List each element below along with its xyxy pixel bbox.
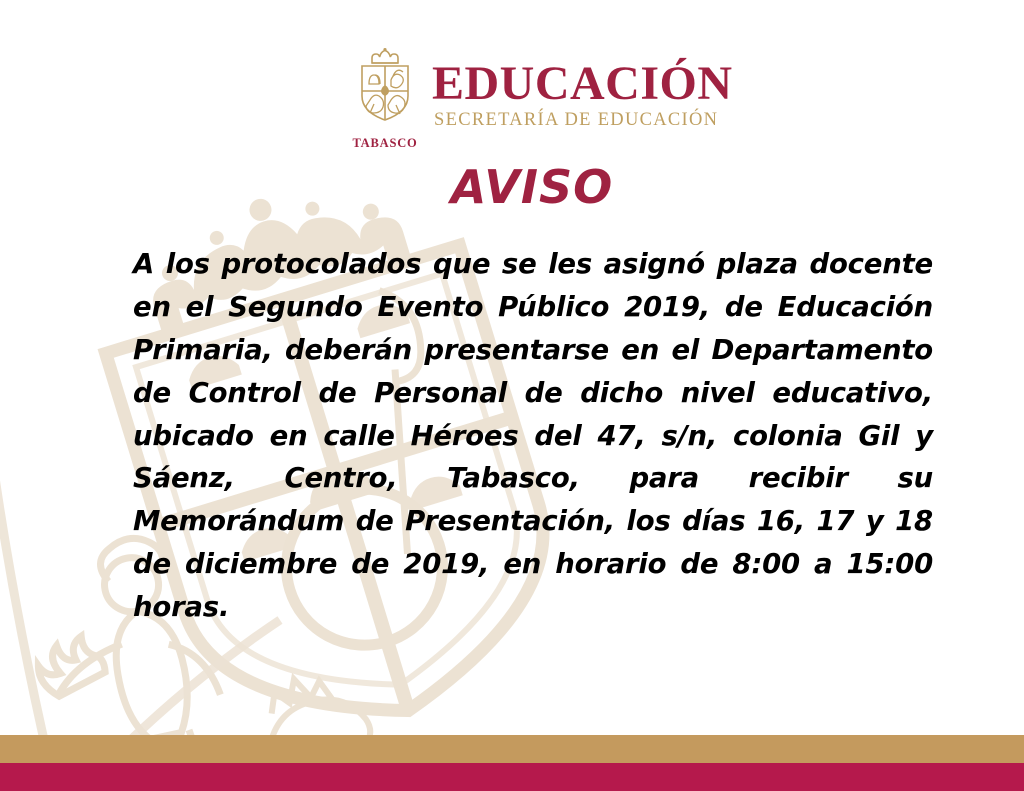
notice-page: TABASCO EDUCACIÓN SECRETARÍA DE EDUCACIÓ…: [0, 0, 1024, 791]
crest-caption: TABASCO: [352, 136, 417, 151]
footer-band-gold: [0, 735, 1024, 763]
notice-body: A los protocolados que se les asignó pla…: [133, 243, 933, 672]
secretaria-educacion-logo: TABASCO EDUCACIÓN SECRETARÍA DE EDUCACIÓ…: [352, 48, 733, 153]
notice-paragraph: A los protocolados que se les asignó pla…: [133, 243, 933, 672]
logo-text-block: EDUCACIÓN SECRETARÍA DE EDUCACIÓN: [432, 60, 733, 131]
logo-subtitle: SECRETARÍA DE EDUCACIÓN: [434, 110, 733, 131]
footer-band-crimson: [0, 763, 1024, 791]
tabasco-coat-of-arms-icon: TABASCO: [352, 48, 418, 153]
page-title: AVISO: [0, 160, 1024, 214]
logo-main-title: EDUCACIÓN: [432, 60, 733, 107]
